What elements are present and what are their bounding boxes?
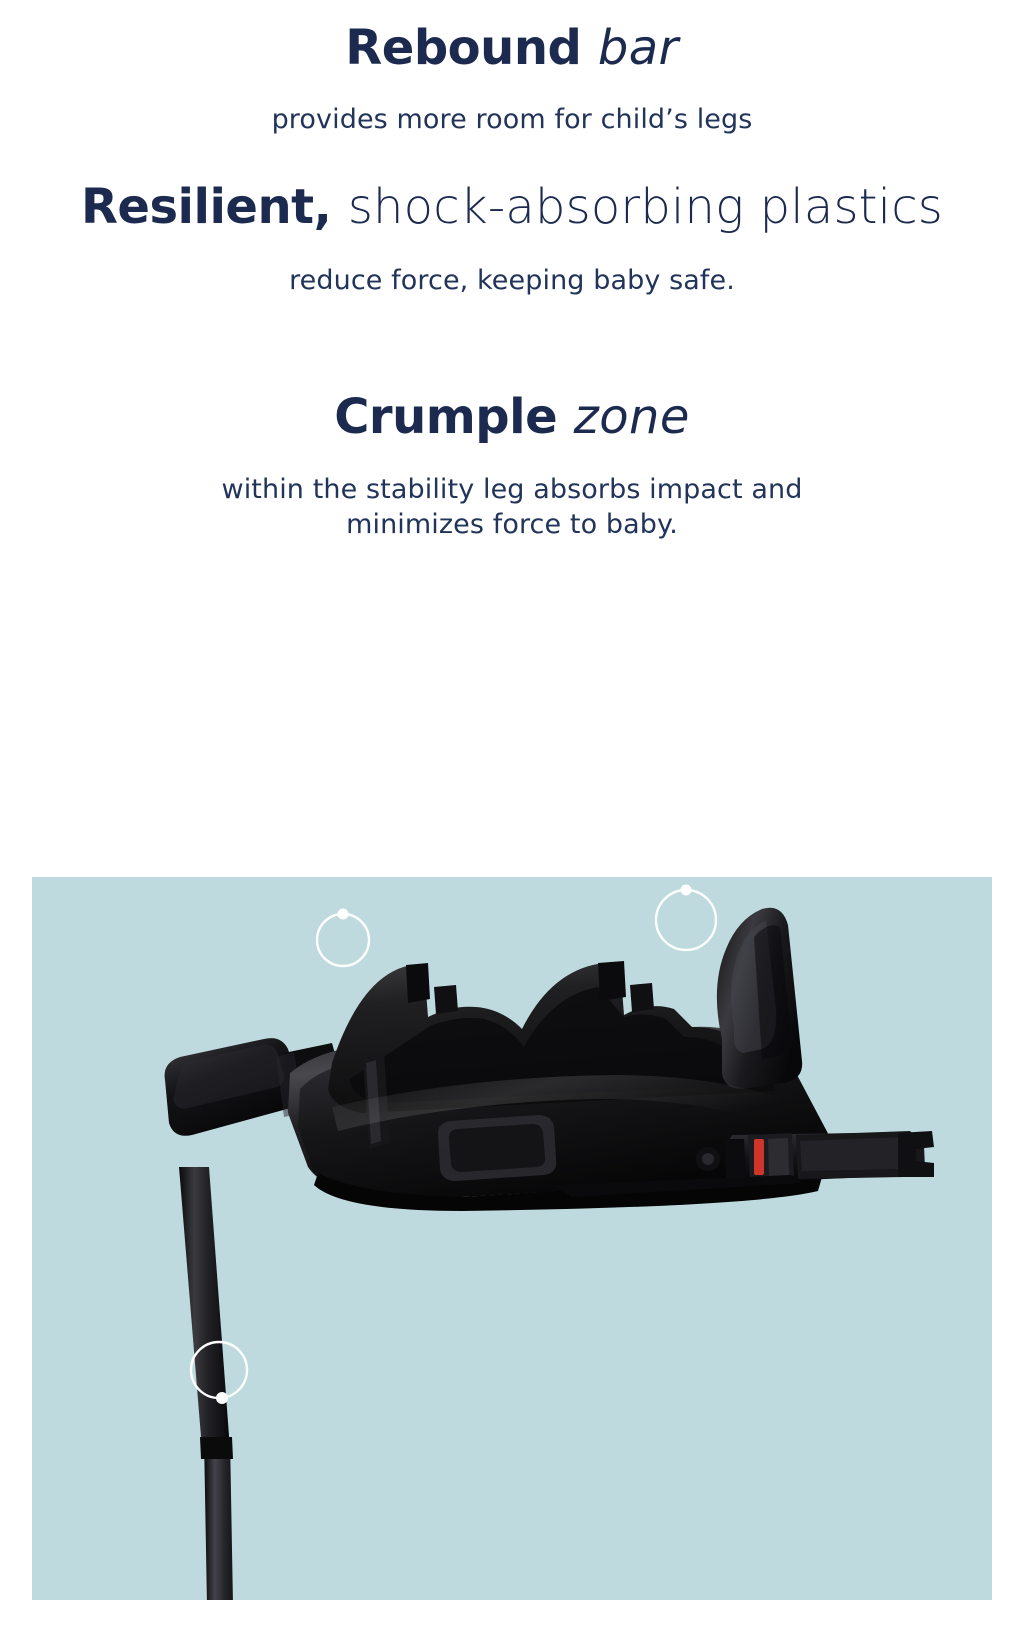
callout-dot [681, 885, 692, 896]
product-image-panel [32, 877, 992, 1600]
headline-light-bar: bar [598, 20, 679, 76]
product-panel-background [32, 877, 992, 1600]
car-seat-base-illustration [32, 877, 992, 1600]
headline-light-zone: zone [574, 389, 690, 445]
headline-light-shock-absorbing-plastics: shock-absorbing plastics [348, 179, 943, 235]
callout-dot [338, 909, 349, 920]
headline-rebound-bar: Rebound bar [0, 22, 1024, 76]
subcopy-rebound-bar: provides more room for child’s legs [0, 102, 1024, 137]
subcopy-crumple-zone-line2: minimizes force to baby. [346, 509, 678, 540]
headline-bold-rebound: Rebound [345, 20, 581, 76]
feature-block-resilient-plastics: Resilient, shock-absorbing plastics redu… [0, 137, 1024, 299]
subcopy-resilient-plastics: reduce force, keeping baby safe. [0, 263, 1024, 298]
callout-dot [216, 1392, 228, 1404]
headline-crumple-zone: Crumple zone [0, 391, 1024, 445]
product-image-stage [32, 877, 992, 1600]
feature-copy-section: Rebound bar provides more room for child… [0, 0, 1024, 543]
headline-resilient-plastics: Resilient, shock-absorbing plastics [0, 179, 1024, 236]
feature-block-crumple-zone: Crumple zone within the stability leg ab… [0, 299, 1024, 543]
belt-path-recess [438, 1115, 556, 1181]
lock-indicator-red [754, 1139, 764, 1175]
headline-bold-crumple: Crumple [334, 389, 557, 445]
subcopy-crumple-zone-line1: within the stability leg absorbs impact … [222, 474, 803, 505]
headline-bold-resilient: Resilient, [81, 179, 331, 235]
isofix-connector-arm [696, 1131, 934, 1183]
page-root: Rebound bar provides more room for child… [0, 0, 1024, 1626]
feature-block-rebound-bar: Rebound bar provides more room for child… [0, 0, 1024, 137]
subcopy-crumple-zone: within the stability leg absorbs impact … [0, 472, 1024, 542]
